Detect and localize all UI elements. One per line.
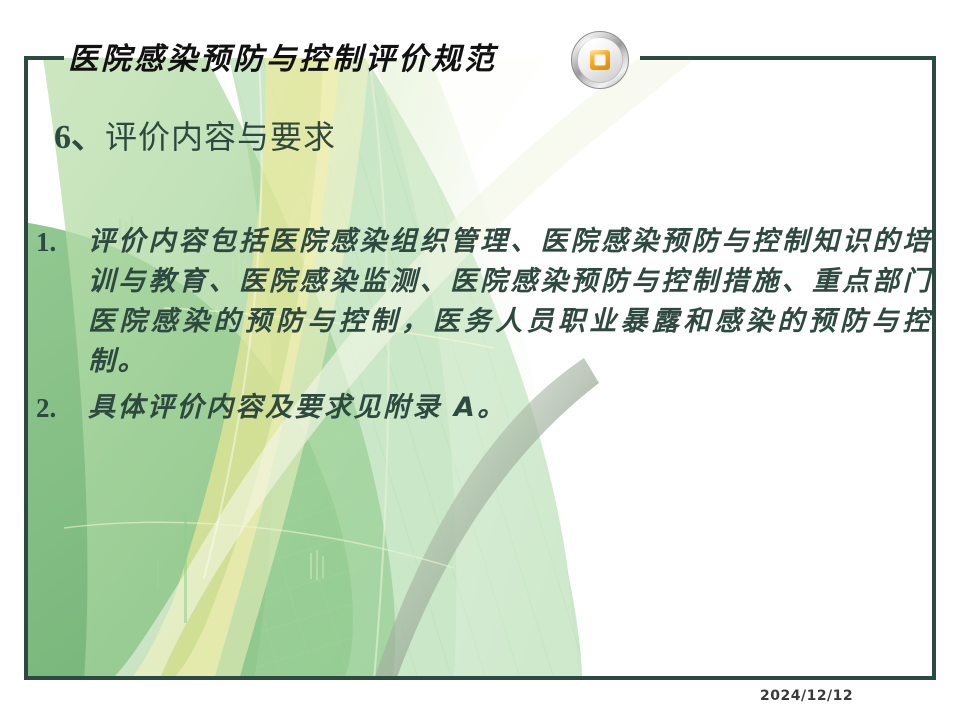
section-heading-text: 评价内容与要求 bbox=[105, 118, 336, 156]
footer-date: 2024/12/12 bbox=[760, 688, 853, 704]
presentation-slide: 医院感染预防与控制评价规范 bbox=[0, 0, 960, 720]
list-item: 1. 评价内容包括医院感染组织管理、医院感染预防与控制知识的培训与教育、医院感染… bbox=[36, 222, 932, 382]
list-item-marker: 2. bbox=[36, 388, 88, 428]
frame-line-bottom bbox=[24, 676, 936, 680]
list-item-text: 评价内容包括医院感染组织管理、医院感染预防与控制知识的培训与教育、医院感染监测、… bbox=[88, 222, 932, 382]
slide-title: 医院感染预防与控制评价规范 bbox=[68, 40, 497, 80]
section-heading-number: 6、 bbox=[54, 119, 105, 156]
frame-line-right bbox=[932, 56, 936, 680]
list-item-marker: 1. bbox=[36, 222, 88, 262]
section-heading: 6、评价内容与要求 bbox=[54, 114, 336, 161]
frame-line-top-right bbox=[640, 56, 936, 60]
rounded-square-badge-icon bbox=[570, 30, 630, 90]
content-list: 1. 评价内容包括医院感染组织管理、医院感染预防与控制知识的培训与教育、医院感染… bbox=[36, 222, 932, 428]
list-item: 2. 具体评价内容及要求见附录 A。 bbox=[36, 388, 932, 428]
list-item-text: 具体评价内容及要求见附录 A。 bbox=[88, 388, 932, 428]
frame-line-top-left bbox=[24, 56, 64, 60]
frame-line-left bbox=[24, 56, 28, 680]
